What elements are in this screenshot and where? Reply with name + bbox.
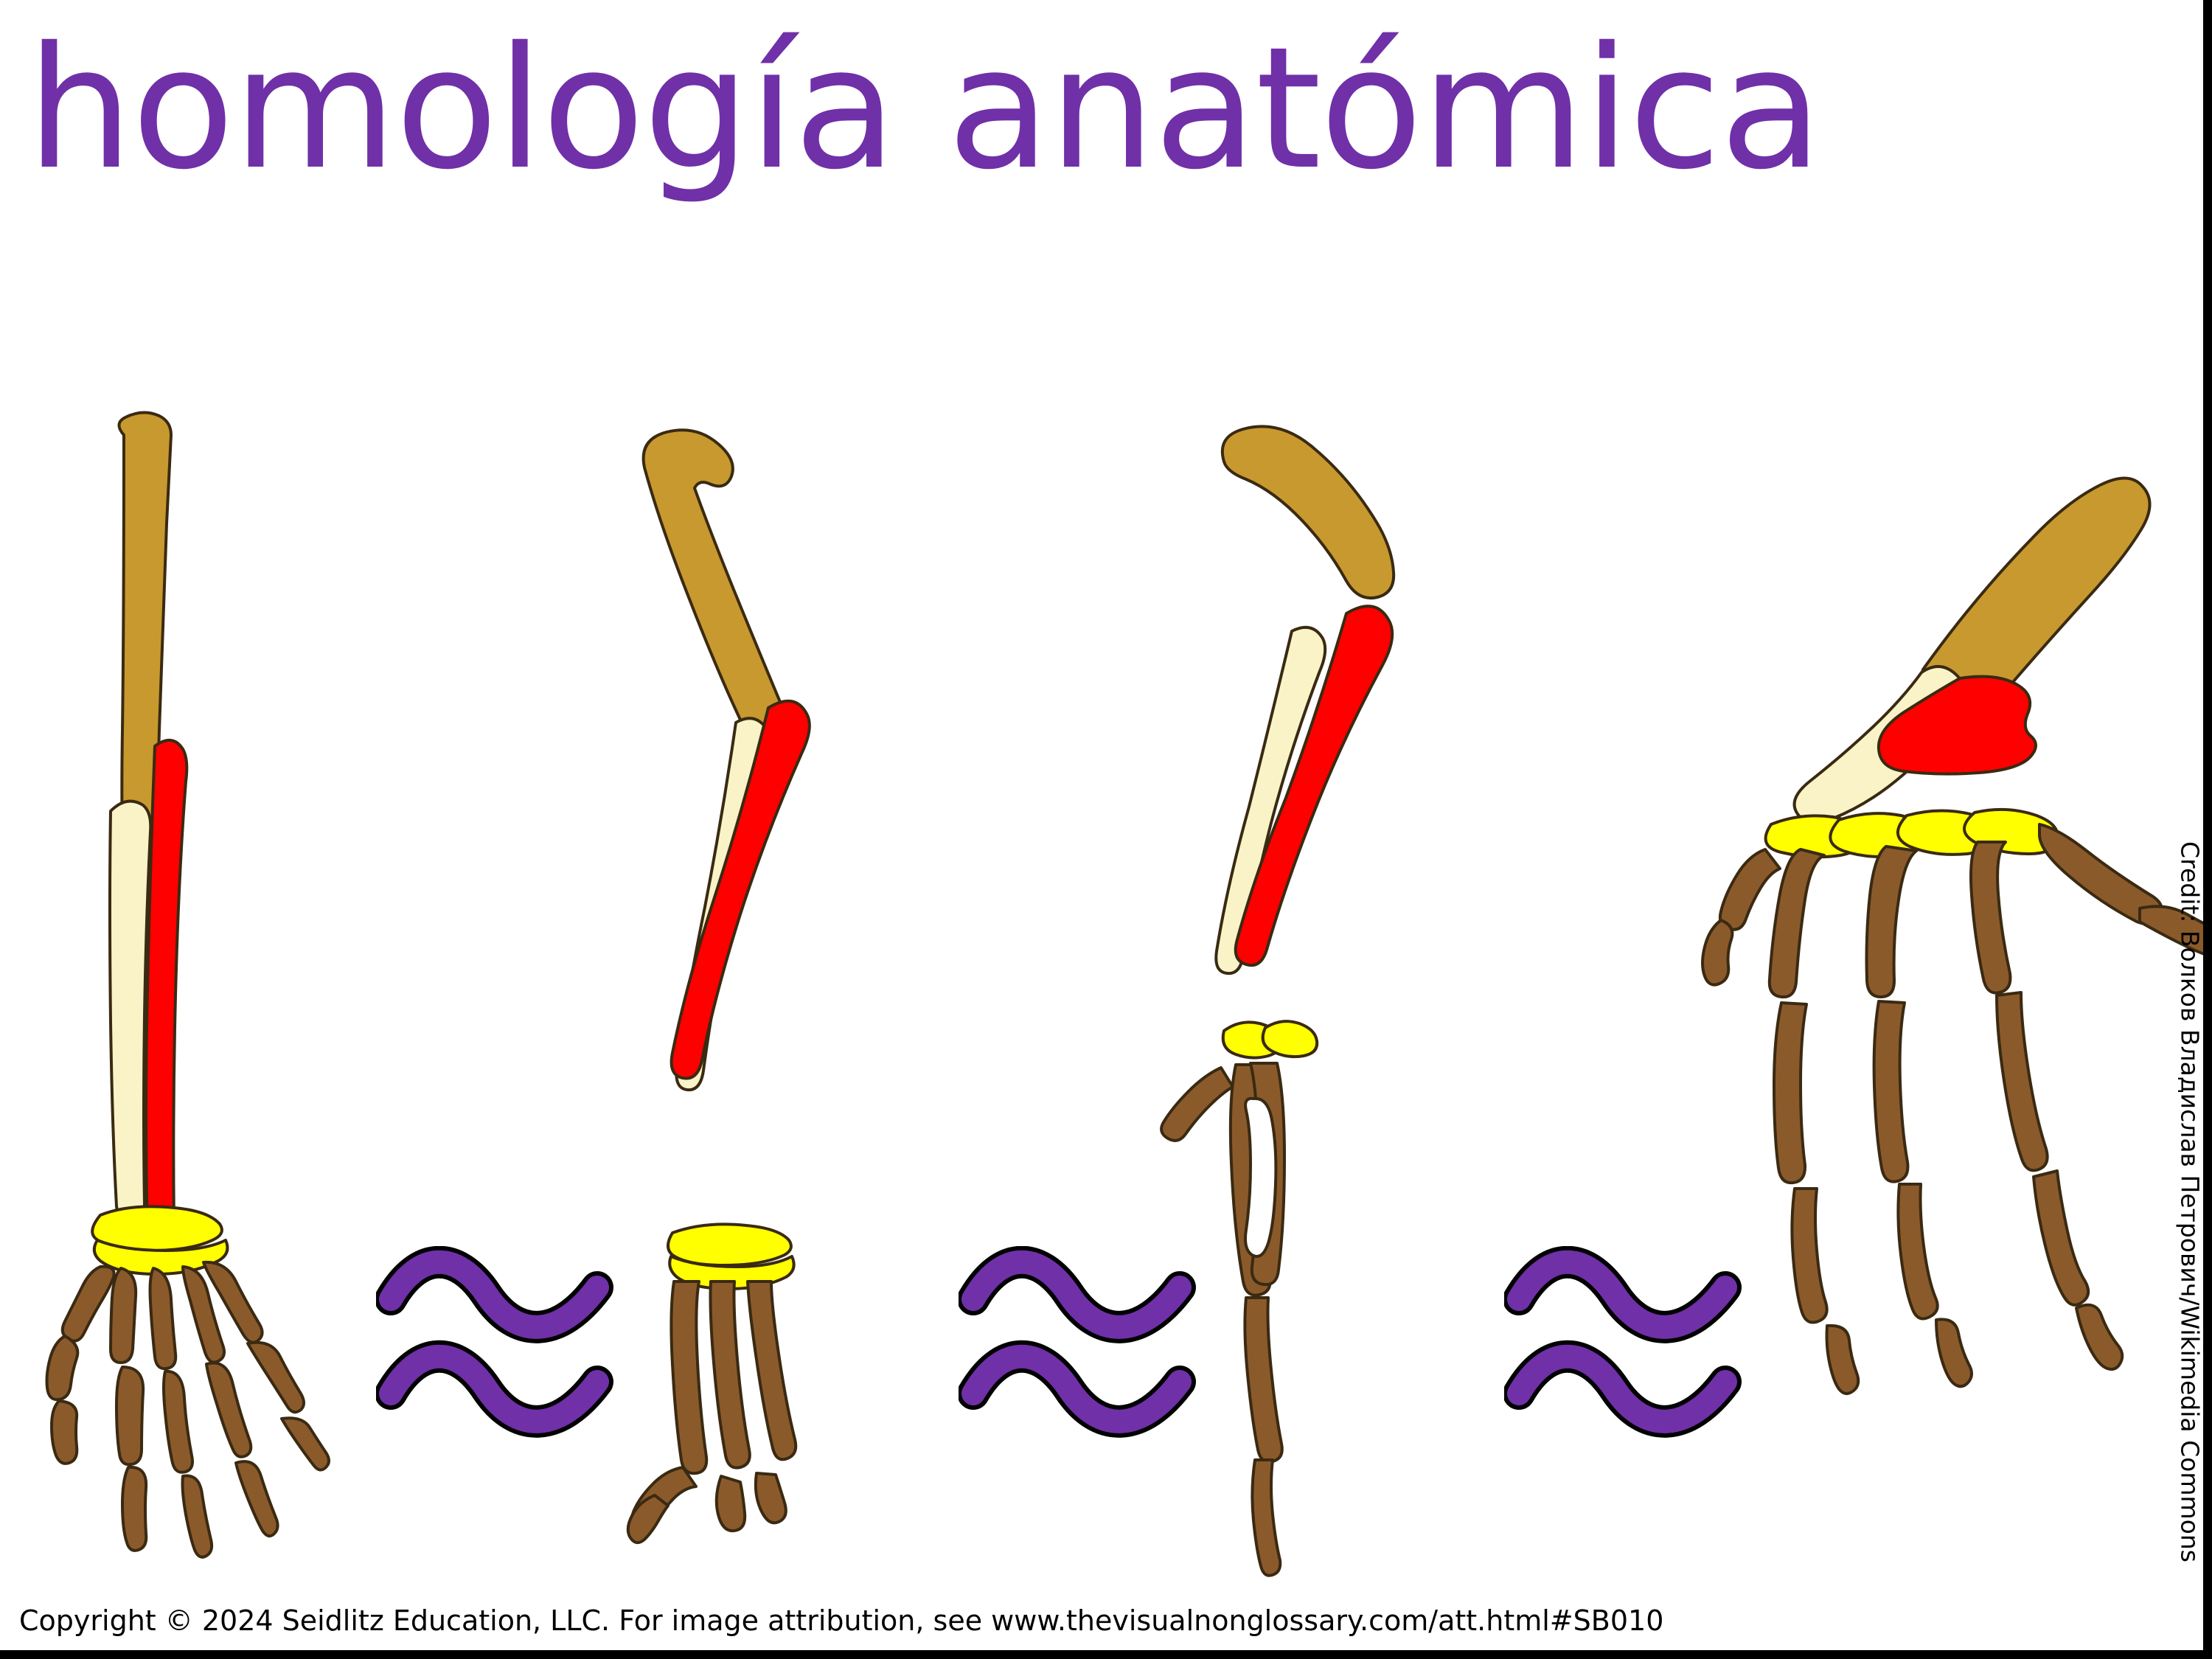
page-title: homología anatómica [27, 21, 2165, 197]
copyright-footer: Copyright © 2024 Seidlitz Education, LLC… [19, 1604, 1663, 1637]
bone-humerus [1222, 426, 1394, 598]
figure-dog-forelimb [612, 413, 922, 1548]
bones-metacarpals-phalanges [628, 1281, 796, 1543]
figure-human-arm [29, 413, 339, 1548]
bone-ulna [1879, 677, 2036, 774]
glossary-card: homología anatómica [0, 0, 2212, 1659]
frame-right-border [2203, 0, 2212, 1652]
bone-humerus [644, 430, 783, 734]
bone-ulna [146, 740, 187, 1248]
figure-bat-wing [1688, 413, 2205, 1548]
bone-carpals [1223, 1021, 1317, 1057]
image-credit-text: Credit: Волков Владислав Петрович/Wikime… [2178, 841, 2202, 1562]
figure-bird-wing [1202, 413, 1512, 1548]
bones-metacarpals-phalanges [1703, 824, 2212, 1394]
bones-metacarpals-phalanges [47, 1262, 330, 1557]
frame-bottom-border [0, 1650, 2212, 1659]
homology-figure-row [0, 413, 2138, 1548]
bone-radius [110, 801, 150, 1229]
approximately-equal-2 [959, 1246, 1202, 1445]
bone-carpals [668, 1224, 794, 1289]
approximately-equal-1 [376, 1246, 619, 1445]
